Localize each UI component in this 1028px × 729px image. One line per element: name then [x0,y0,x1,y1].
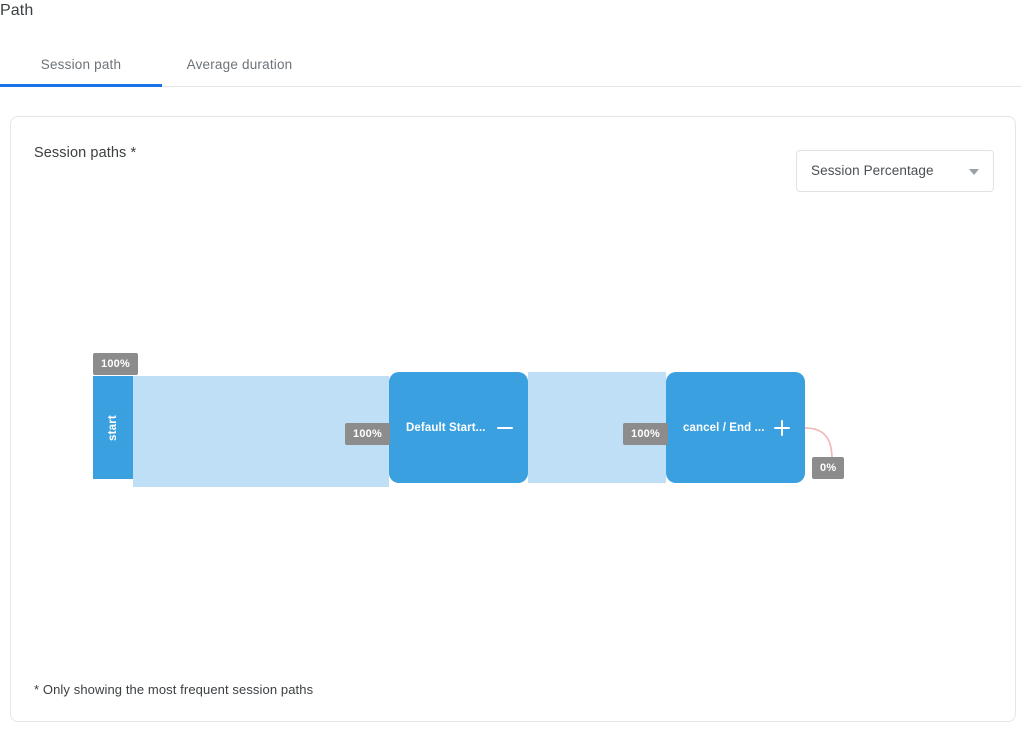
sankey-badge-link-start-to-default-start: 100% [345,423,390,445]
session-paths-card: Session paths * Session Percentage start… [10,116,1016,722]
sankey-node-start-label: start [107,415,119,441]
active-tab-indicator [0,84,162,87]
sankey-node-start[interactable]: start [93,376,133,479]
tab-bar: Session path Average duration [0,44,1022,87]
plus-icon[interactable] [773,419,791,437]
sankey-badge-start: 100% [93,353,138,375]
sankey-diagram: start Default Start... cancel / End ... … [11,117,1017,723]
sankey-node-cancel-end-label: cancel / End ... [683,422,765,434]
tab-average-duration[interactable]: Average duration [162,44,317,85]
sankey-node-default-start-label: Default Start... [406,422,486,434]
minus-icon[interactable] [496,419,514,437]
card-footnote: * Only showing the most frequent session… [34,682,313,697]
sankey-badge-cancel-end-to-exit: 0% [812,457,844,479]
tab-session-path[interactable]: Session path [0,44,162,85]
sankey-node-default-start[interactable]: Default Start... [389,372,528,483]
sankey-link-cancel-end-to-exit [805,428,832,459]
page-title: Path [0,2,33,20]
sankey-badge-link-default-start-to-cancel-end: 100% [623,423,668,445]
sankey-node-cancel-end[interactable]: cancel / End ... [666,372,805,483]
